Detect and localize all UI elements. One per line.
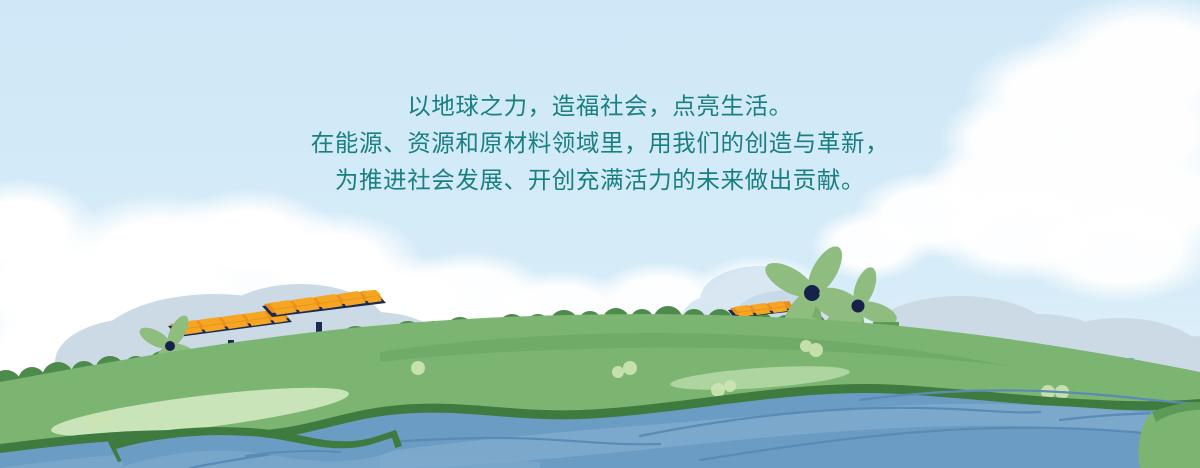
landscape-illustration <box>0 0 1200 468</box>
eco-hero-banner: 以地球之力，造福社会，点亮生活。 在能源、资源和原材料领域里，用我们的创造与革新… <box>0 0 1200 468</box>
